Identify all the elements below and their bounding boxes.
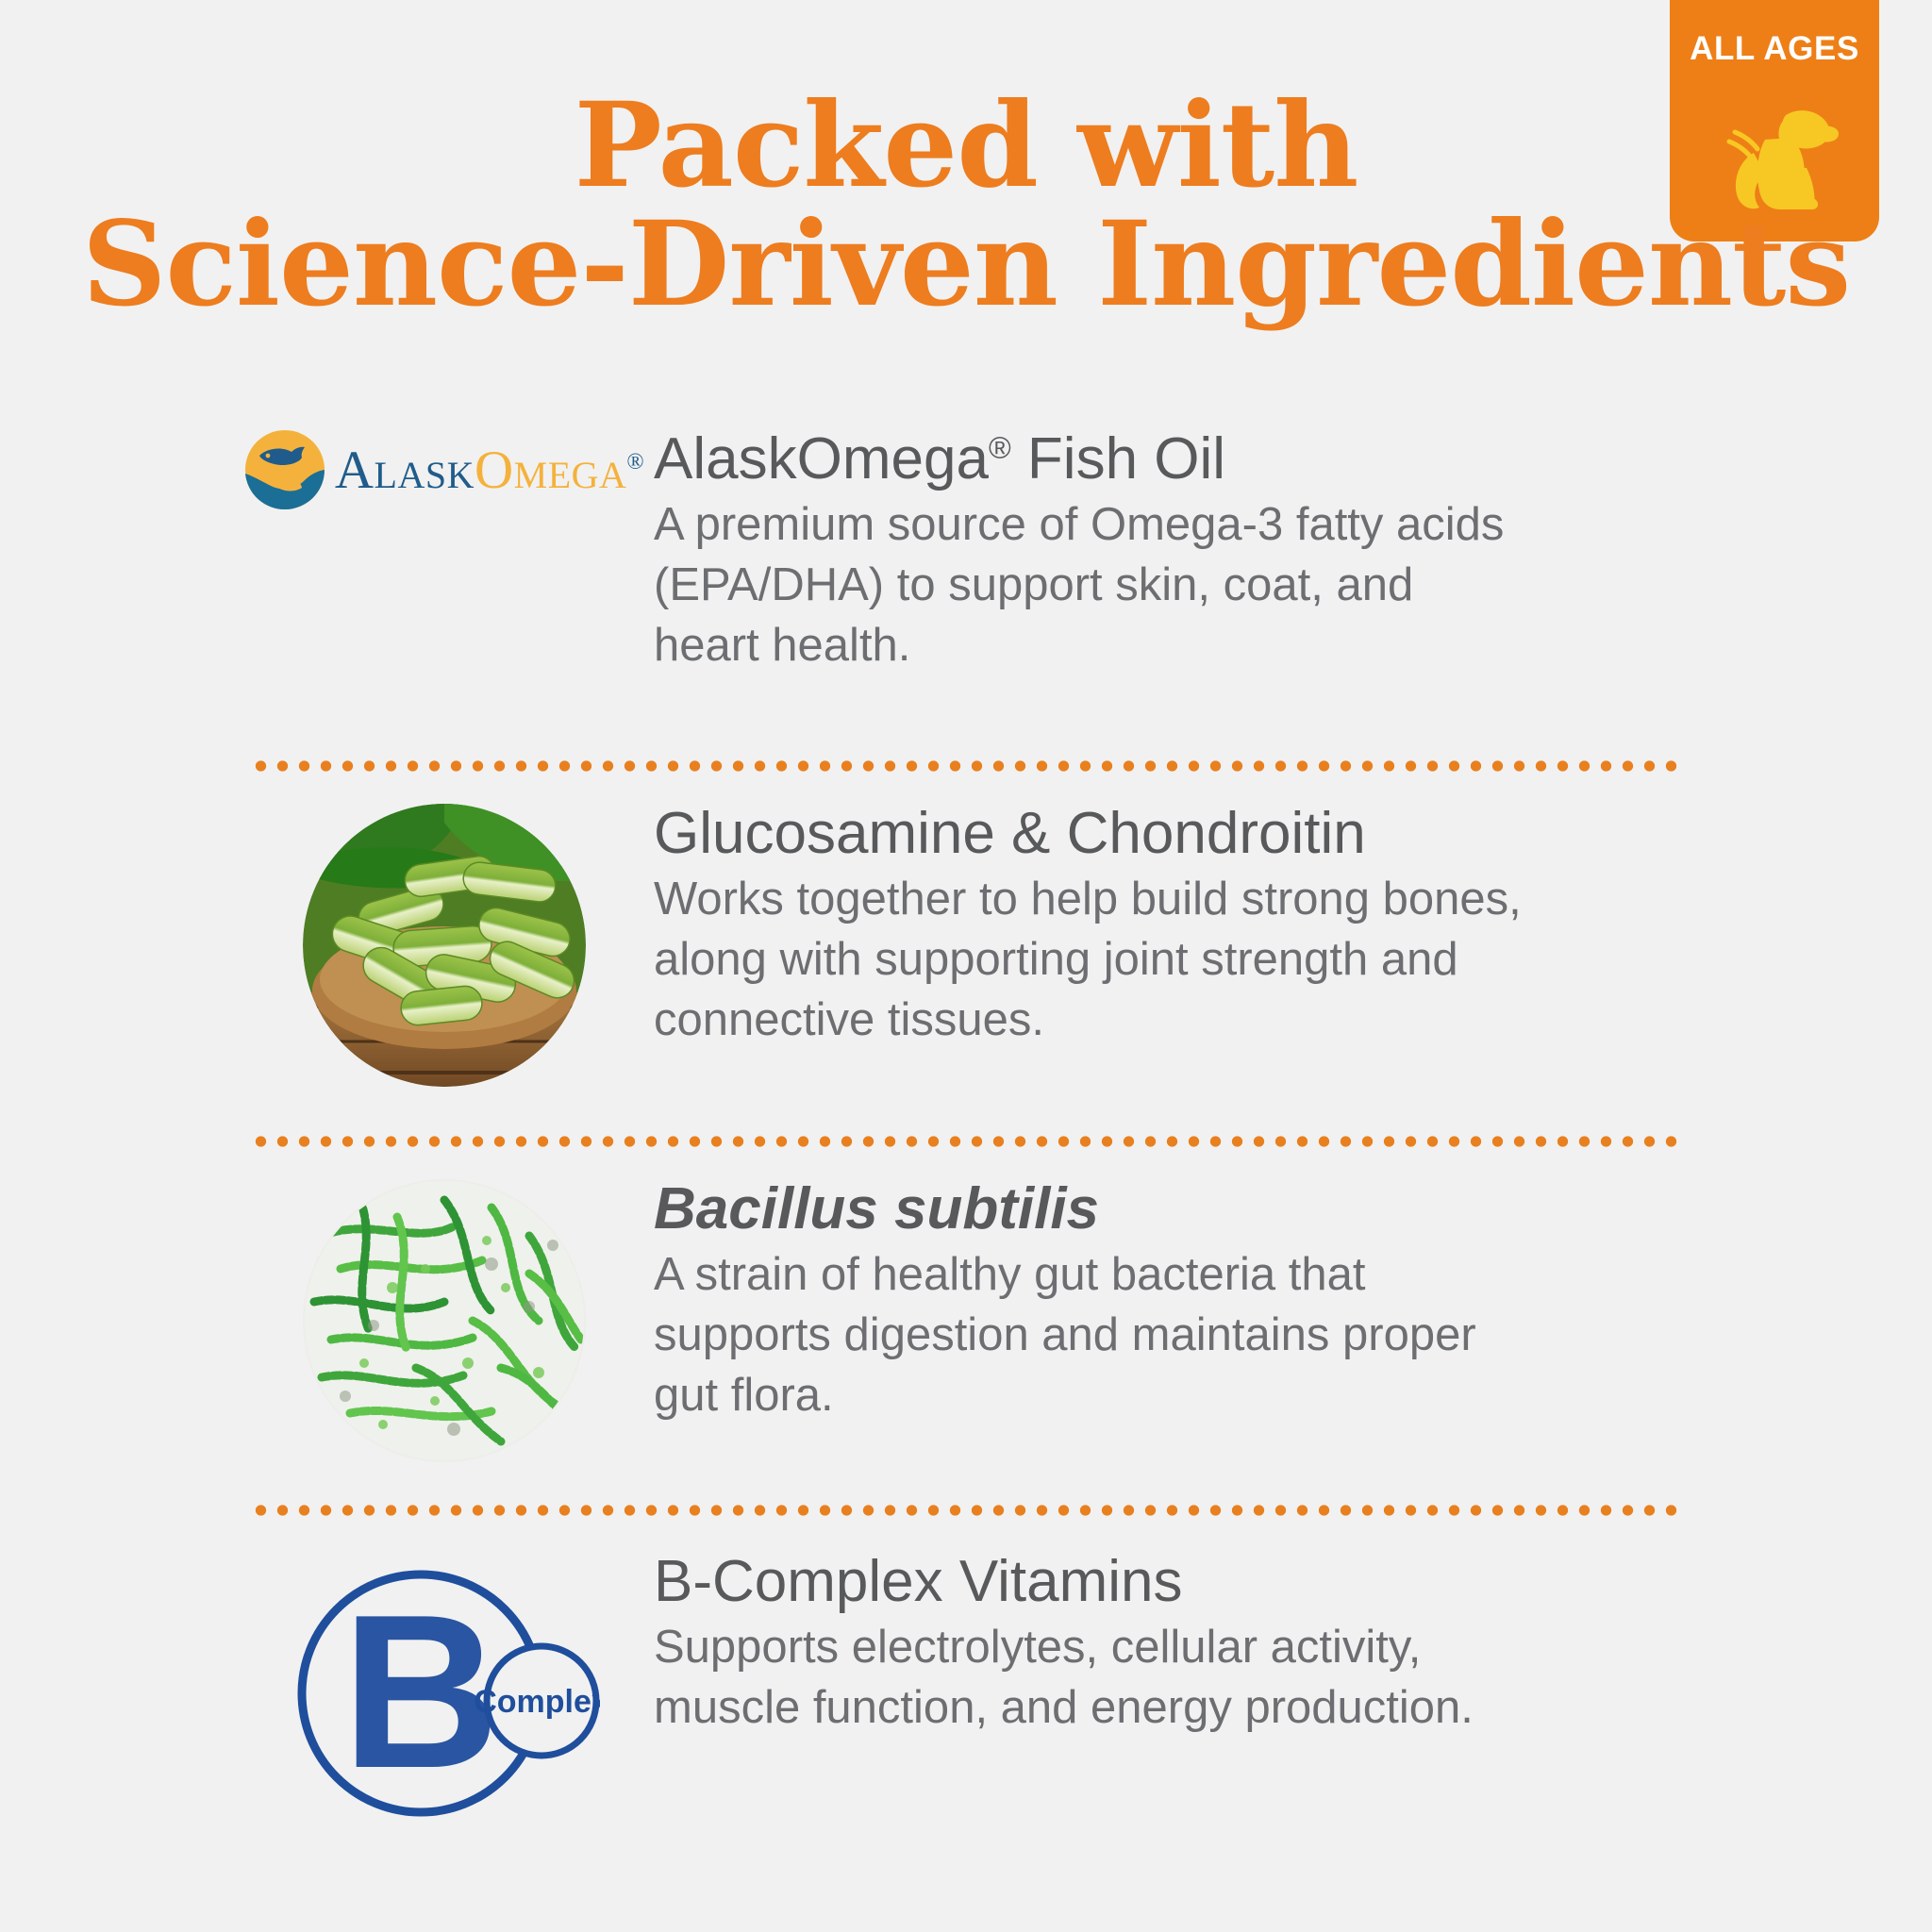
fish-sun-wave-icon xyxy=(244,429,325,510)
alaskomega-wordmark: AlaskOmega® xyxy=(335,443,644,497)
ingredient-title: Glucosamine & Chondroitin xyxy=(654,804,1703,864)
green-capsules-photo xyxy=(250,804,639,1087)
capsules-circle-image xyxy=(303,804,586,1087)
alaskomega-word-omega: Omega xyxy=(475,441,626,500)
bacteria-illustration xyxy=(303,1179,586,1462)
ingredient-title-suffix: Fish Oil xyxy=(1011,426,1225,491)
page-title: Packed with Science-Driven Ingredients xyxy=(0,87,1932,325)
ingredient-row-bacillus: Bacillus subtilis A strain of healthy gu… xyxy=(250,1179,1703,1462)
ingredient-title: Bacillus subtilis xyxy=(654,1179,1703,1240)
ingredient-title-main: AlaskOmega xyxy=(654,426,989,491)
ingredient-description: Works together to help build strong bone… xyxy=(654,870,1522,1050)
ingredient-description: Supports electrolytes, cellular activity… xyxy=(654,1618,1522,1738)
ingredient-description: A premium source of Omega-3 fatty acids … xyxy=(654,495,1522,675)
capsules-illustration xyxy=(303,804,586,1087)
ingredient-copy: AlaskOmega® Fish Oil A premium source of… xyxy=(639,429,1703,676)
ingredient-row-alaskomega: AlaskOmega® AlaskOmega® Fish Oil A premi… xyxy=(250,429,1703,676)
section-divider xyxy=(250,1505,1680,1516)
section-divider xyxy=(250,1136,1680,1147)
all-ages-label: ALL AGES xyxy=(1690,30,1859,68)
ingredient-copy: B-Complex Vitamins Supports electrolytes… xyxy=(639,1552,1703,1739)
b-complex-sublabel: Complex xyxy=(474,1684,600,1720)
section-divider xyxy=(250,760,1680,772)
ingredient-title: AlaskOmega® Fish Oil xyxy=(654,429,1703,490)
bacteria-microscopy-photo xyxy=(250,1179,639,1462)
b-complex-icon: B Complex xyxy=(289,1552,600,1835)
headline-line-1: Packed with xyxy=(0,87,1932,206)
alaskomega-word-alask: Alask xyxy=(335,441,475,500)
headline-line-2: Science-Driven Ingredients xyxy=(0,206,1932,325)
ingredient-copy: Glucosamine & Chondroitin Works together… xyxy=(639,804,1703,1051)
alaskomega-logo: AlaskOmega® xyxy=(250,429,639,510)
b-complex-logo: B Complex xyxy=(250,1552,639,1835)
ingredient-row-glucosamine: Glucosamine & Chondroitin Works together… xyxy=(250,804,1703,1087)
ingredient-title: B-Complex Vitamins xyxy=(654,1552,1703,1612)
ingredient-row-b-complex: B Complex B-Complex Vitamins Supports el… xyxy=(250,1552,1703,1835)
bacteria-circle-image xyxy=(303,1179,586,1462)
registered-mark: ® xyxy=(989,430,1011,464)
ingredient-description: A strain of healthy gut bacteria that su… xyxy=(654,1245,1522,1425)
ingredient-copy: Bacillus subtilis A strain of healthy gu… xyxy=(639,1179,1703,1426)
